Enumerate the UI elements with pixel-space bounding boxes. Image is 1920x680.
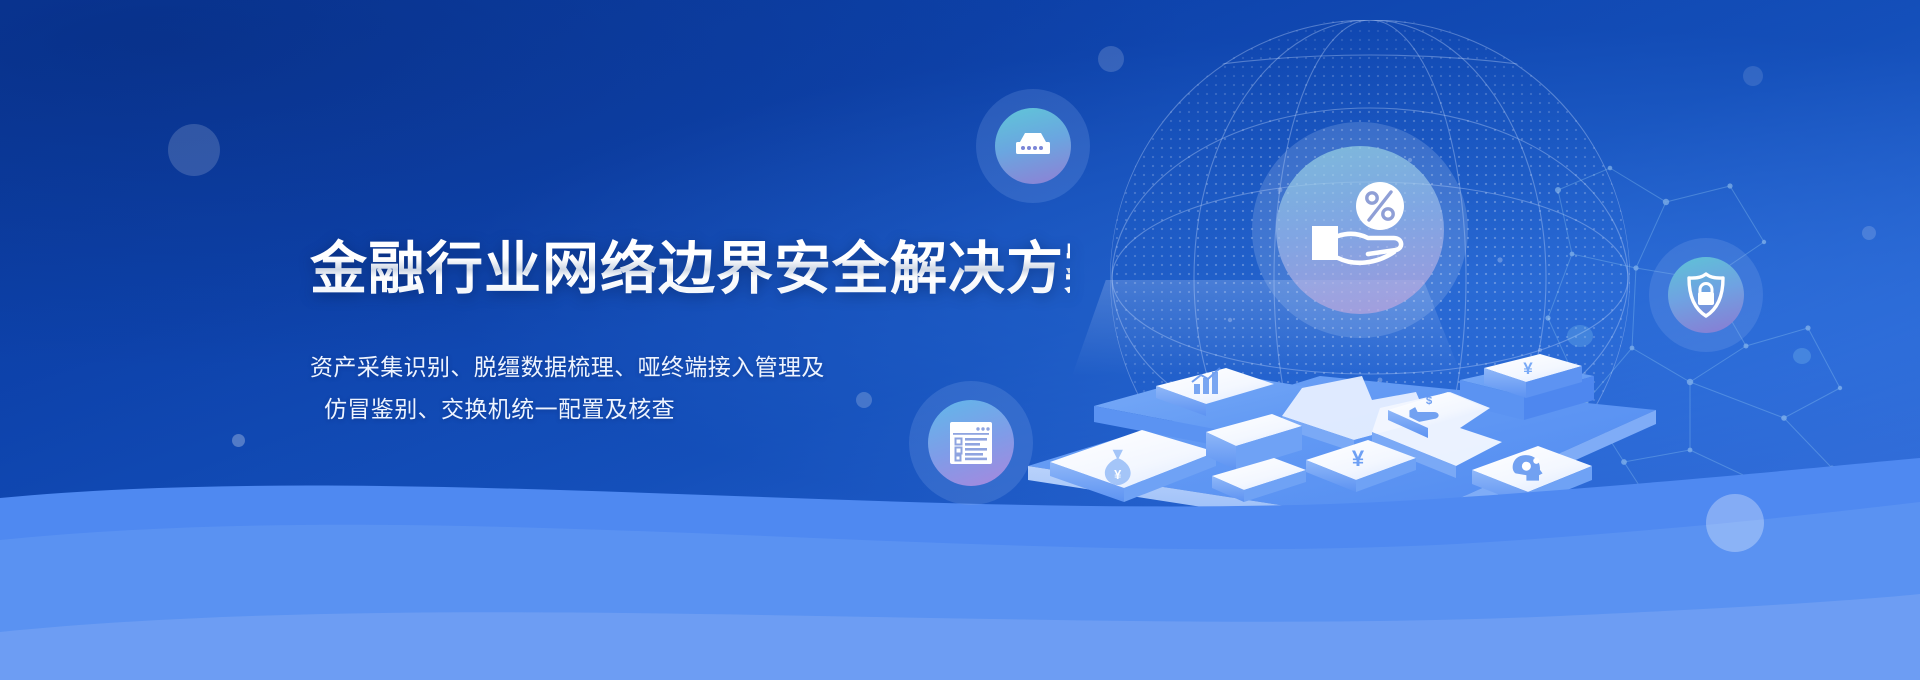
hand-percent-icon <box>1302 180 1418 280</box>
bokeh-circle-3 <box>1743 66 1763 86</box>
hero-banner: ¥ ¥ <box>0 0 1920 680</box>
svg-text:¥: ¥ <box>1523 359 1533 378</box>
shield-icon-badge <box>1668 257 1744 333</box>
page-title: 金融行业网络边界安全解决方案 <box>310 236 1070 303</box>
hand-percent-icon-badge <box>1276 146 1444 314</box>
router-icon <box>1011 130 1055 162</box>
document-list-icon <box>948 420 994 466</box>
bokeh-circle-1 <box>168 124 220 176</box>
router-icon-badge <box>995 108 1071 184</box>
shield-lock-icon <box>1686 272 1726 318</box>
document-icon-badge <box>928 400 1014 486</box>
